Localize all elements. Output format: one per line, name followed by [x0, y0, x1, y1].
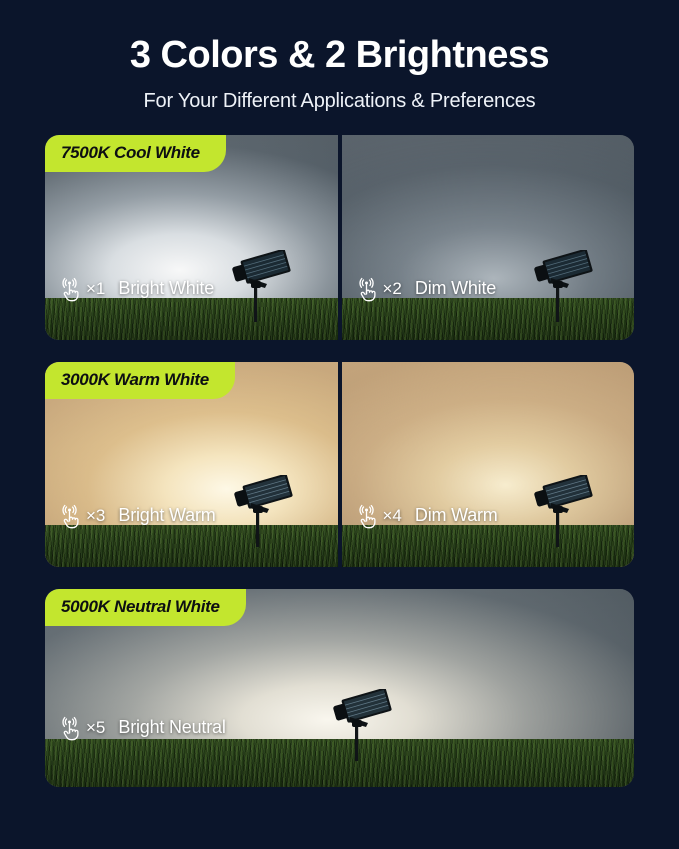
mode-row: 7500K Cool White [45, 135, 634, 340]
solar-light-fixture [223, 475, 297, 547]
tap-gesture-icon [356, 276, 380, 302]
mode-row: 3000K Warm White [45, 362, 634, 567]
tap-gesture-icon [59, 715, 83, 741]
mode-panel: ×2 Dim White [342, 135, 635, 340]
page-subtitle: For Your Different Applications & Prefer… [0, 90, 679, 113]
color-temp-badge: 7500K Cool White [45, 135, 226, 172]
mode-label: Bright Neutral [118, 717, 225, 738]
mode-caption: ×3 Bright Warm [59, 503, 216, 529]
tap-gesture-icon [59, 276, 83, 302]
mode-label: Bright Warm [118, 505, 215, 526]
color-temp-badge: 5000K Neutral White [45, 589, 246, 626]
mode-label: Bright White [118, 278, 214, 299]
tap-count: ×3 [86, 506, 105, 526]
tap-gesture-icon [356, 503, 380, 529]
header: 3 Colors & 2 Brightness For Your Differe… [0, 0, 679, 113]
solar-light-fixture [322, 689, 396, 761]
mode-label: Dim Warm [415, 505, 498, 526]
solar-light-fixture [523, 475, 597, 547]
mode-caption: ×1 Bright White [59, 276, 214, 302]
tap-count: ×2 [383, 279, 402, 299]
mode-caption: ×2 Dim White [356, 276, 497, 302]
tap-count: ×5 [86, 718, 105, 738]
tap-count: ×1 [86, 279, 105, 299]
mode-rows: 7500K Cool White [0, 135, 679, 787]
color-temp-badge: 3000K Warm White [45, 362, 235, 399]
solar-light-fixture [221, 250, 295, 322]
mode-row: 5000K Neutral White [45, 589, 634, 787]
mode-caption: ×5 Bright Neutral [59, 715, 226, 741]
tap-count: ×4 [383, 506, 402, 526]
mode-caption: ×4 Dim Warm [356, 503, 498, 529]
page-title: 3 Colors & 2 Brightness [0, 36, 679, 76]
mode-label: Dim White [415, 278, 496, 299]
mode-panel: ×4 Dim Warm [342, 362, 635, 567]
tap-gesture-icon [59, 503, 83, 529]
solar-light-fixture [523, 250, 597, 322]
